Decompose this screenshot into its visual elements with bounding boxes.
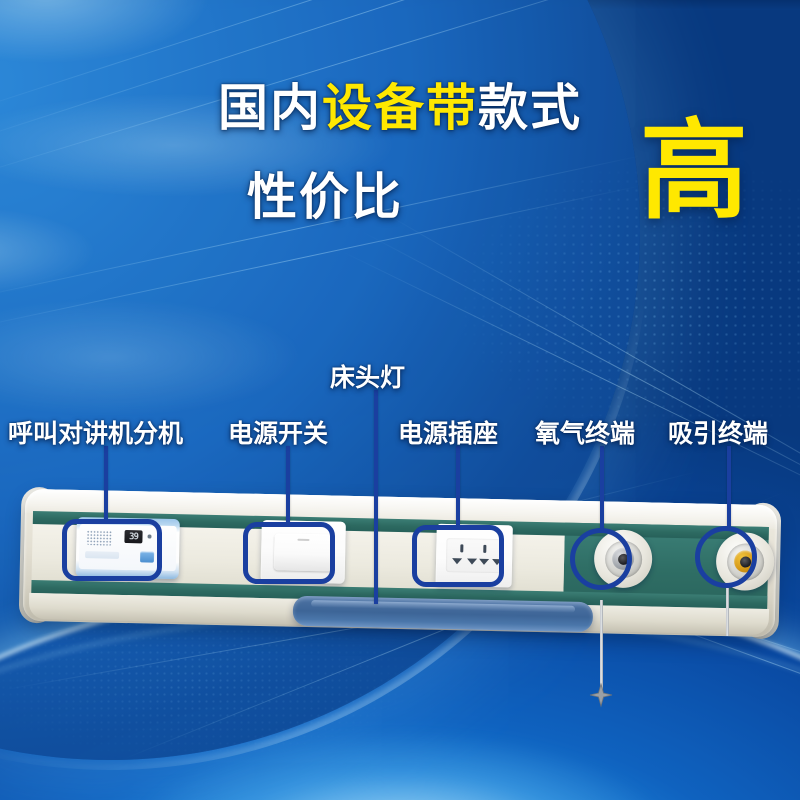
highlight-circle-oxygen bbox=[570, 528, 632, 590]
highlight-box-switch bbox=[243, 522, 335, 584]
leader-line-oxygen bbox=[600, 446, 604, 530]
highlight-circle-suction bbox=[695, 526, 757, 588]
leader-line-switch bbox=[286, 446, 290, 524]
leader-line-bedlight bbox=[374, 390, 378, 604]
callout-label-socket: 电源插座 bbox=[398, 414, 498, 450]
callout-label-suction: 吸引终端 bbox=[668, 414, 768, 450]
leader-line-socket bbox=[456, 446, 460, 526]
leader-line-suction bbox=[727, 446, 731, 530]
callout-label-oxygen: 氧气终端 bbox=[535, 414, 635, 450]
leader-line-intercom bbox=[104, 446, 108, 522]
callout-layer: 呼叫对讲机分机 电源开关 床头灯 电源插座 氧气终端 吸引终端 bbox=[0, 0, 800, 800]
callout-label-intercom: 呼叫对讲机分机 bbox=[8, 414, 183, 450]
callout-label-bedlight: 床头灯 bbox=[330, 358, 405, 394]
callout-label-switch: 电源开关 bbox=[228, 414, 328, 450]
highlight-box-socket bbox=[412, 525, 504, 587]
highlight-box-intercom bbox=[62, 519, 162, 581]
